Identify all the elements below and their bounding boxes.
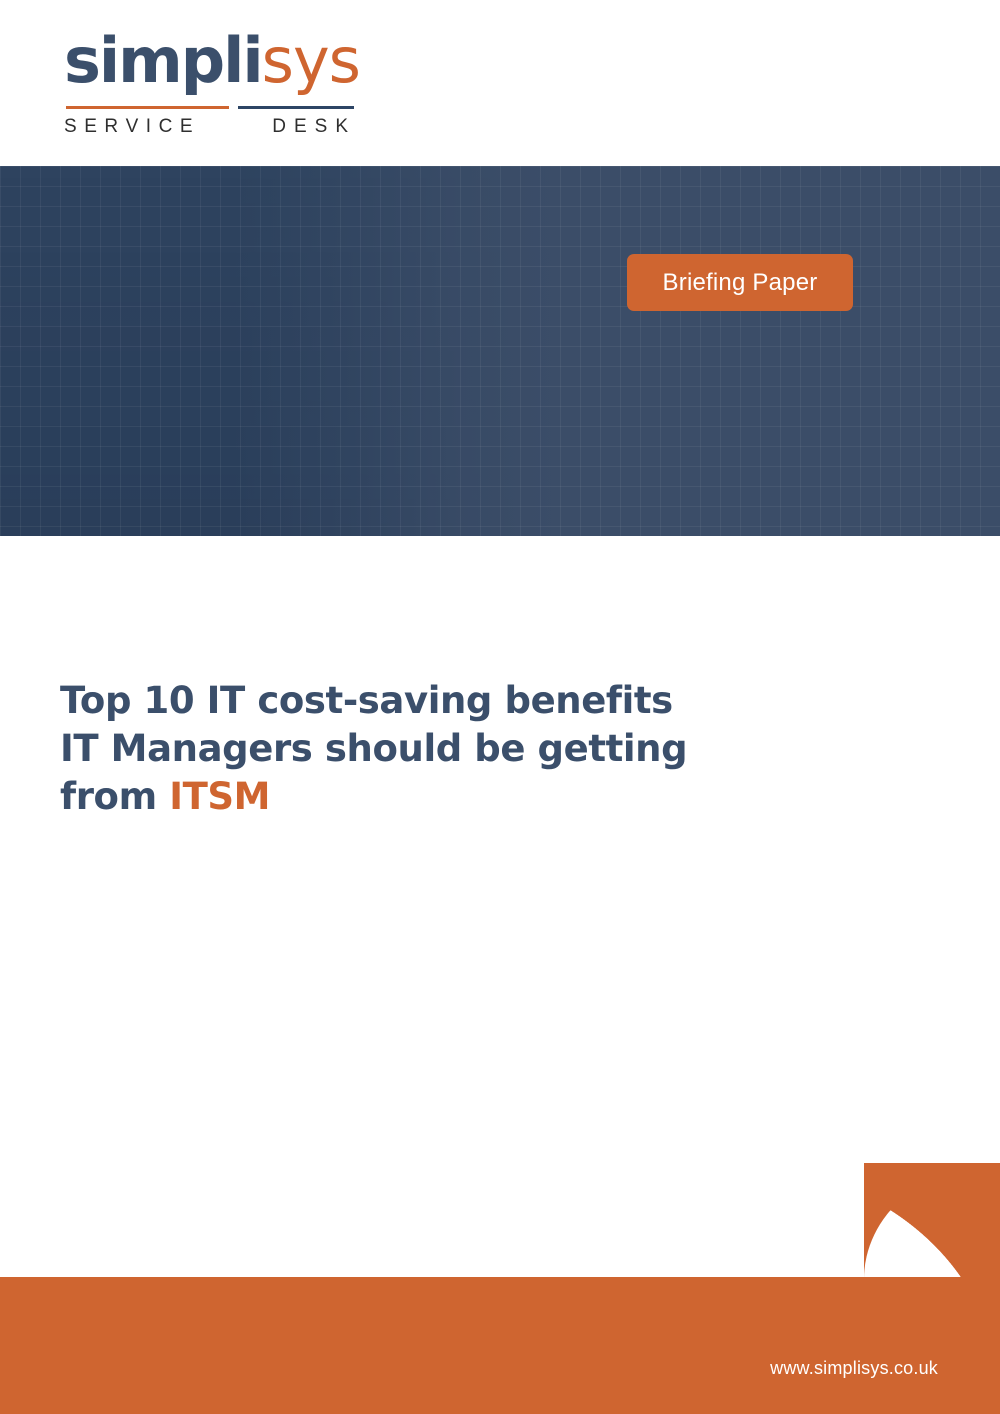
logo-wordmark: simplisys [64, 24, 360, 98]
hero-grid-texture [0, 166, 1000, 536]
footer-curve-shape [864, 1163, 1000, 1279]
brand-logo[interactable]: simplisys SERVICE DESK [64, 24, 364, 136]
logo-rules [66, 106, 354, 109]
logo-word-primary: simpli [64, 24, 262, 97]
page-title-line-3-prefix: from [60, 775, 169, 818]
page-title: Top 10 IT cost-saving benefits IT Manage… [60, 677, 680, 821]
footer-curve-decoration [864, 1163, 1000, 1279]
footer-bar [0, 1277, 1000, 1414]
document-page: simplisys SERVICE DESK Briefing Paper To… [0, 0, 1000, 1414]
logo-rule-orange [66, 106, 229, 109]
hero-banner [0, 166, 1000, 536]
logo-tagline: SERVICE DESK [64, 116, 356, 138]
logo-tagline-service: SERVICE [64, 116, 200, 138]
briefing-paper-badge[interactable]: Briefing Paper [627, 254, 853, 311]
logo-word-secondary: sys [262, 24, 360, 97]
page-title-line-2: IT Managers should be getting [60, 725, 680, 773]
page-title-line-1: Top 10 IT cost-saving benefits [60, 677, 680, 725]
logo-tagline-desk: DESK [272, 116, 356, 138]
logo-rule-navy [238, 106, 354, 109]
footer-curve-mask [864, 1163, 1000, 1279]
page-title-accent-itsm: ITSM [169, 775, 270, 818]
footer-website-url[interactable]: www.simplisys.co.uk [770, 1358, 938, 1379]
page-title-line-3: from ITSM [60, 773, 680, 821]
